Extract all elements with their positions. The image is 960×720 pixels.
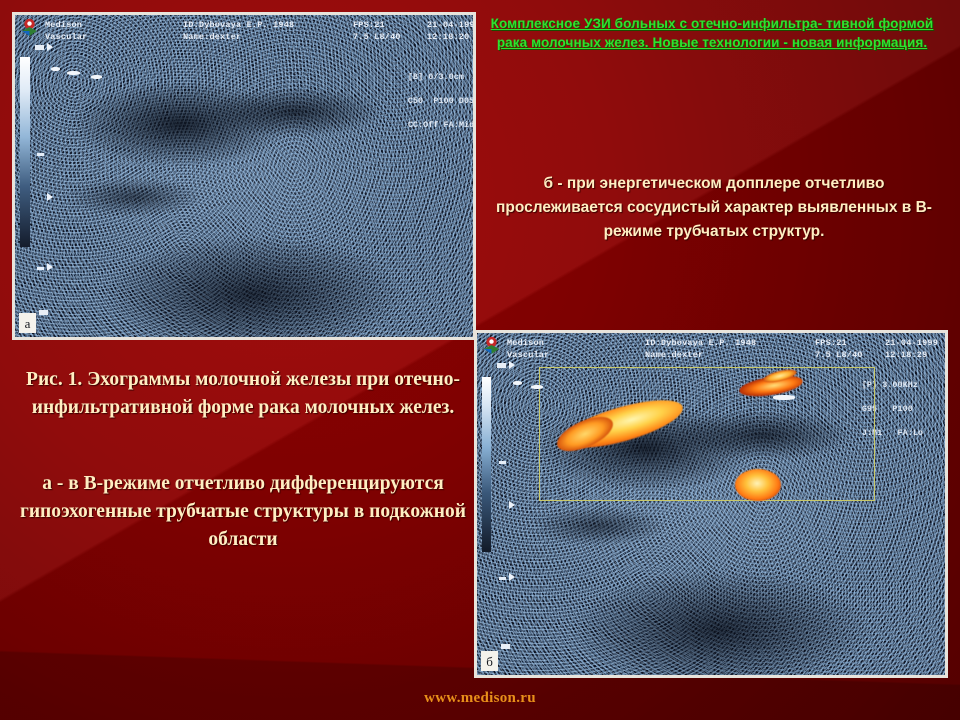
depth-pointer-icon: [47, 43, 53, 51]
us-a-param-gain: C50 P100 D054: [408, 96, 473, 106]
depth-tick: [37, 153, 44, 156]
us-b-patient-id: ID:Dybovaya E.P. 1948: [645, 338, 756, 348]
depth-pointer-icon: [509, 573, 515, 581]
scan-marker: [91, 75, 102, 79]
us-a-date: 21-04-1999: [427, 20, 473, 30]
depth-marker-chip: [497, 363, 506, 368]
us-b-fps: FPS:21: [815, 338, 847, 348]
us-b-manufacturer: Medison: [507, 338, 544, 348]
panel-label-a: а: [19, 313, 36, 333]
depth-pointer-icon: [47, 193, 53, 201]
corner-chip: [501, 644, 510, 649]
ultrasound-a-screen: MedisonVascular ID:Dybovaya E.P. 1948Nam…: [15, 15, 473, 337]
depth-pointer-icon: [509, 501, 515, 509]
us-b-date: 21-04-1999: [885, 338, 938, 348]
corner-chip: [39, 310, 48, 315]
ultrasound-b-screen: MedisonVascular ID:Dybovaya E.P. 1948Nam…: [477, 333, 945, 675]
depth-tick: [499, 577, 506, 580]
ultrasound-image-a: MedisonVascular ID:Dybovaya E.P. 1948Nam…: [12, 12, 476, 340]
depth-marker-chip: [35, 45, 44, 50]
us-b-probe: 7.5 L8/40: [815, 350, 863, 360]
us-a-time: 12:18:20: [427, 32, 469, 42]
figure-caption-primary: Рис. 1. Эхограммы молочной железы при от…: [14, 366, 472, 422]
depth-tick: [499, 461, 506, 464]
ultrasound-a-parameters: [B] 0/3.0cm C50 P100 D054 CC:Off FA:Mid: [367, 59, 473, 143]
scan-marker: [513, 381, 522, 385]
us-b-time: 12:18:29: [885, 350, 927, 360]
right-panel-caption: б - при энергетическом допплере отчетлив…: [492, 172, 936, 244]
us-b-patient-name: Name:dexter: [645, 350, 703, 360]
us-a-manufacturer: Medison: [45, 20, 82, 30]
scan-marker: [67, 71, 80, 75]
presentation-slide: Комплексное УЗИ больных с отечно-инфильт…: [0, 0, 960, 720]
ultrasound-image-b: MedisonVascular ID:Dybovaya E.P. 1948Nam…: [474, 330, 948, 678]
scan-marker: [531, 385, 543, 389]
ultrasound-b-header: MedisonVascular ID:Dybovaya E.P. 1948Nam…: [477, 333, 945, 363]
panel-label-b: б: [481, 651, 498, 671]
bright-reflector: [773, 395, 795, 400]
figure-caption-secondary: а - в В-режиме отчетливо дифференцируютс…: [14, 470, 472, 554]
scan-marker: [51, 67, 60, 71]
footer-url[interactable]: www.medison.ru: [0, 690, 960, 707]
ultrasound-a-header: MedisonVascular ID:Dybovaya E.P. 1948Nam…: [15, 15, 473, 45]
us-a-patient-name: Name:dexter: [183, 32, 241, 42]
us-a-mode: Vascular: [45, 32, 87, 42]
us-a-param-depth: [B] 0/3.0cm: [408, 72, 464, 82]
us-a-probe: 7.5 L8/40: [353, 32, 401, 42]
grayscale-depth-bar: [482, 377, 491, 552]
doppler-flow-signal-lower: [735, 469, 781, 501]
slide-title: Комплексное УЗИ больных с отечно-инфильт…: [488, 14, 936, 52]
depth-pointer-icon: [47, 263, 53, 271]
depth-pointer-icon: [509, 361, 515, 369]
us-a-patient-id: ID:Dybovaya E.P. 1948: [183, 20, 294, 30]
us-a-fps: FPS:21: [353, 20, 385, 30]
grayscale-depth-bar: [20, 57, 30, 247]
us-b-mode: Vascular: [507, 350, 549, 360]
us-a-param-filter: CC:Off FA:Mid: [408, 120, 473, 130]
depth-tick: [37, 267, 44, 270]
